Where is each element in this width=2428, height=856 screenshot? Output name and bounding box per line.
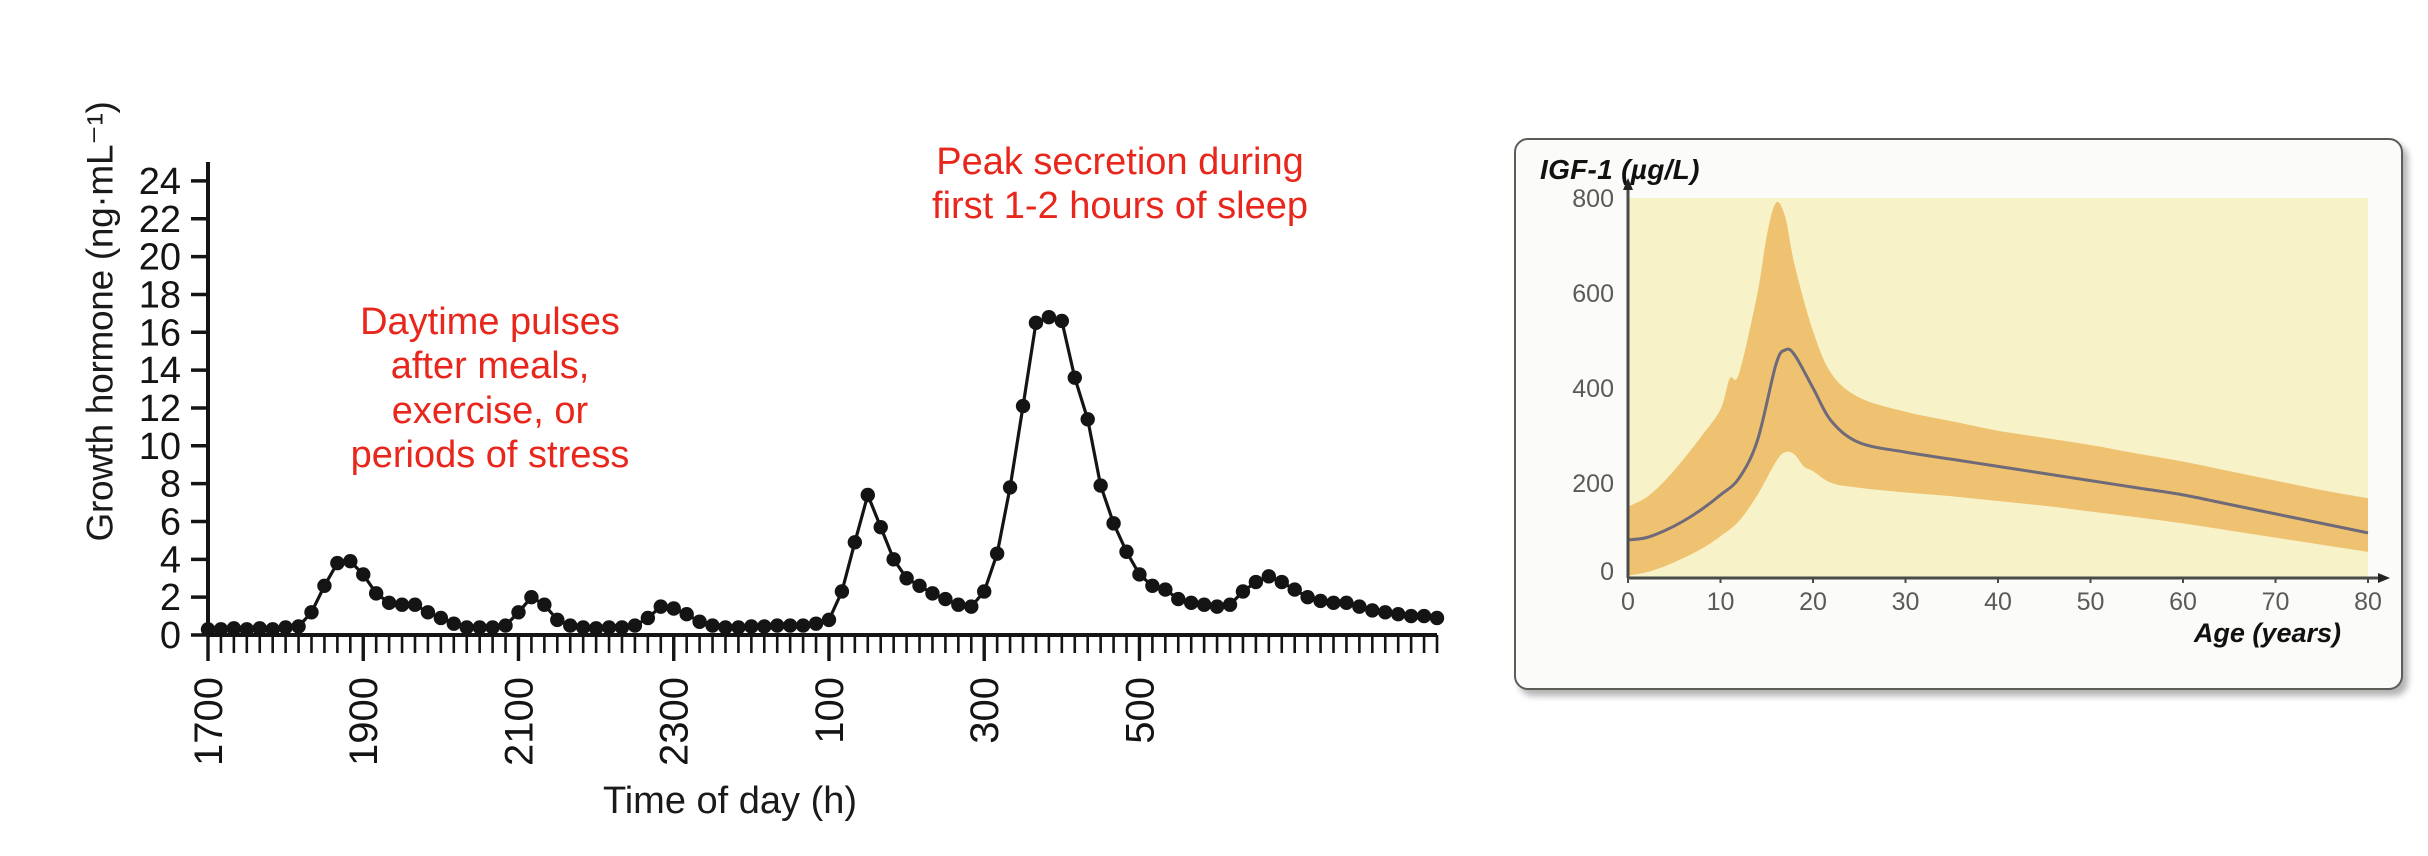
gh-data-point: [938, 592, 952, 606]
gh-data-point: [1158, 582, 1172, 596]
gh-data-point: [1417, 609, 1431, 623]
gh-x-tick-label: 500: [1118, 677, 1162, 744]
gh-plot-svg: 024681012141618202224 170019002100230010…: [0, 0, 1470, 856]
gh-data-point: [990, 546, 1004, 560]
gh-data-point: [240, 622, 254, 636]
gh-x-tick-labels: 1700190021002300100300500: [187, 677, 1162, 766]
gh-data-point: [822, 613, 836, 627]
igf-plot-svg: 01020304050607080 0200400600800: [1516, 140, 2401, 688]
gh-data-point: [382, 596, 396, 610]
gh-data-point: [1184, 596, 1198, 610]
gh-x-tick-label: 1700: [187, 677, 231, 766]
igf-x-tick-labels: 01020304050607080: [1621, 588, 2382, 616]
gh-data-point: [1262, 569, 1276, 583]
gh-data-point: [977, 584, 991, 598]
igf-y-tick-label: 600: [1572, 280, 1614, 308]
gh-data-point: [1068, 370, 1082, 384]
gh-data-point: [744, 619, 758, 633]
gh-data-point: [1352, 599, 1366, 613]
gh-data-point: [951, 598, 965, 612]
gh-minor-ticks: [208, 635, 1437, 661]
gh-data-point: [861, 488, 875, 502]
gh-data-point: [330, 556, 344, 570]
igf-x-tick-label: 40: [1984, 588, 2012, 616]
gh-y-tick-label: 20: [139, 237, 181, 279]
igf-x-tick-label: 10: [1707, 588, 1735, 616]
igf-y-tick-label: 200: [1572, 470, 1614, 498]
gh-data-point: [964, 599, 978, 613]
gh-data-point: [770, 618, 784, 632]
gh-data-point: [783, 618, 797, 632]
gh-data-point: [1055, 314, 1069, 328]
gh-data-point: [395, 598, 409, 612]
igf-x-tick-label: 0: [1621, 588, 1635, 616]
gh-data-point: [1236, 584, 1250, 598]
gh-data-point: [1081, 412, 1095, 426]
gh-data-point: [1249, 575, 1263, 589]
gh-data-point: [214, 622, 228, 636]
igf-x-tick-label: 60: [2169, 588, 2197, 616]
annotation-daytime-pulses: Daytime pulses after meals, exercise, or…: [255, 300, 725, 478]
gh-data-point: [1210, 599, 1224, 613]
gh-x-tick-label: 1900: [342, 677, 386, 766]
gh-data-point: [1145, 579, 1159, 593]
gh-x-tick-label: 2100: [497, 677, 541, 766]
gh-data-point: [1093, 478, 1107, 492]
gh-data-point: [692, 615, 706, 629]
igf-x-tick-label: 50: [2077, 588, 2105, 616]
gh-data-point: [1223, 598, 1237, 612]
gh-data-point: [1197, 598, 1211, 612]
gh-y-tick-label: 2: [160, 577, 181, 619]
gh-data-point: [848, 535, 862, 549]
gh-data-point: [589, 621, 603, 635]
gh-data-point: [1171, 592, 1185, 606]
gh-data-point: [317, 579, 331, 593]
gh-data-point: [498, 618, 512, 632]
gh-data-point: [563, 618, 577, 632]
gh-data-point: [1003, 480, 1017, 494]
igf-y-tick-label: 0: [1600, 558, 1614, 586]
gh-y-tick-label: 24: [139, 161, 181, 203]
gh-data-point: [201, 622, 215, 636]
gh-data-point: [343, 554, 357, 568]
gh-y-tick-label: 22: [139, 199, 181, 241]
igf-y-tick-label: 400: [1572, 375, 1614, 403]
gh-data-point: [1339, 596, 1353, 610]
gh-data-point: [421, 605, 435, 619]
gh-data-point: [886, 552, 900, 566]
igf-x-tick-label: 30: [1892, 588, 1920, 616]
gh-y-tick-label: 14: [139, 350, 181, 392]
gh-data-point: [615, 620, 629, 634]
gh-data-point: [874, 520, 888, 534]
gh-data-point: [537, 598, 551, 612]
gh-data-point: [1042, 310, 1056, 324]
gh-x-tick-label: 300: [963, 677, 1007, 744]
gh-data-point: [641, 611, 655, 625]
gh-data-point: [278, 620, 292, 634]
gh-data-point: [434, 611, 448, 625]
igf1-chart-panel: IGF-1 (µg/L) 01020304050607080 020040060…: [1514, 138, 2403, 690]
gh-y-tick-label: 12: [139, 388, 181, 430]
gh-data-point: [796, 618, 810, 632]
gh-x-tick-label: 2300: [653, 677, 697, 766]
gh-data-point: [1119, 545, 1133, 559]
gh-y-tick-label: 0: [160, 615, 181, 657]
gh-data-point: [628, 618, 642, 632]
igf-x-tick-label: 80: [2354, 588, 2382, 616]
gh-y-tick-label: 16: [139, 312, 181, 354]
gh-data-point: [227, 621, 241, 635]
gh-data-point: [460, 620, 474, 634]
gh-data-point: [1326, 596, 1340, 610]
gh-data-point: [835, 584, 849, 598]
gh-data-point: [679, 607, 693, 621]
gh-data-point: [369, 586, 383, 600]
gh-data-point: [667, 601, 681, 615]
gh-data-point: [253, 621, 267, 635]
gh-data-point: [485, 620, 499, 634]
gh-data-point: [291, 619, 305, 633]
gh-data-point: [718, 620, 732, 634]
growth-hormone-chart: Growth hormone (ng·mL⁻¹) Time of day (h)…: [0, 0, 1470, 856]
igf-x-tick-label: 70: [2262, 588, 2290, 616]
gh-data-point: [757, 619, 771, 633]
gh-data-point: [1313, 594, 1327, 608]
gh-data-point: [1016, 399, 1030, 413]
gh-data-point: [356, 567, 370, 581]
igf-y-tick-labels: 0200400600800: [1572, 185, 1614, 586]
gh-data-point: [1275, 575, 1289, 589]
gh-y-tick-label: 18: [139, 274, 181, 316]
gh-data-point: [654, 599, 668, 613]
gh-data-point: [1404, 609, 1418, 623]
gh-y-tick-label: 10: [139, 426, 181, 468]
gh-y-tick-labels: 024681012141618202224: [139, 161, 181, 657]
gh-data-point: [1430, 611, 1444, 625]
igf-x-tick-label: 20: [1799, 588, 1827, 616]
gh-x-tick-label: 100: [808, 677, 852, 744]
gh-data-point: [1132, 567, 1146, 581]
gh-data-point: [1029, 316, 1043, 330]
gh-data-point: [511, 605, 525, 619]
gh-y-tick-label: 8: [160, 464, 181, 506]
gh-data-point: [705, 618, 719, 632]
gh-data-point: [524, 590, 538, 604]
gh-y-tick-label: 4: [160, 539, 181, 581]
gh-data-point: [1391, 607, 1405, 621]
gh-data-point: [304, 605, 318, 619]
gh-data-point: [447, 616, 461, 630]
gh-data-point: [472, 620, 486, 634]
gh-data-point: [1300, 590, 1314, 604]
gh-data-point: [731, 620, 745, 634]
igf-x-axis-label: Age (years): [1516, 618, 2341, 649]
annotation-sleep-peak: Peak secretion during first 1-2 hours of…: [860, 140, 1380, 229]
gh-data-point: [899, 571, 913, 585]
gh-data-point: [925, 586, 939, 600]
gh-data-point: [1287, 582, 1301, 596]
igf-y-tick-label: 800: [1572, 185, 1614, 213]
gh-data-point: [602, 620, 616, 634]
gh-y-tick-label: 6: [160, 501, 181, 543]
gh-data-point: [912, 579, 926, 593]
gh-data-point: [265, 622, 279, 636]
gh-data-point: [1378, 605, 1392, 619]
gh-data-point: [408, 598, 422, 612]
gh-data-point: [550, 613, 564, 627]
gh-data-point: [1365, 603, 1379, 617]
gh-data-point: [809, 616, 823, 630]
gh-data-point: [1106, 516, 1120, 530]
gh-data-point: [576, 620, 590, 634]
